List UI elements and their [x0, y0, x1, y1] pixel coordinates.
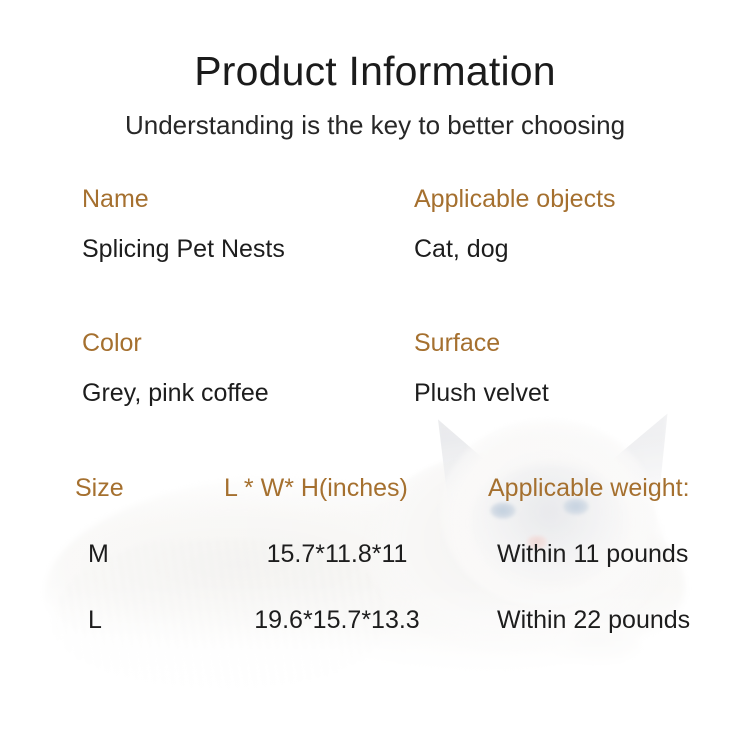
size-cell-dimensions-l: 19.6*15.7*13.3 — [212, 606, 462, 635]
spec-label-color: Color — [82, 329, 142, 358]
size-cell-size-m: M — [88, 540, 109, 569]
spec-label-applicable-objects: Applicable objects — [414, 185, 616, 214]
product-information-page: Product Information Understanding is the… — [0, 0, 750, 750]
size-table-header-size: Size — [75, 474, 124, 503]
size-cell-weight-m: Within 11 pounds — [497, 540, 688, 569]
spec-label-surface: Surface — [414, 329, 500, 358]
page-title: Product Information — [0, 48, 750, 95]
spec-value-name: Splicing Pet Nests — [82, 235, 285, 264]
spec-value-color: Grey, pink coffee — [82, 379, 269, 408]
spec-value-applicable-objects: Cat, dog — [414, 235, 509, 264]
size-table-header-weight: Applicable weight: — [488, 474, 690, 503]
size-table-header-dimensions: L * W* H(inches) — [224, 474, 408, 503]
size-cell-size-l: L — [88, 606, 102, 635]
spec-value-surface: Plush velvet — [414, 379, 549, 408]
content-layer: Product Information Understanding is the… — [0, 0, 750, 750]
spec-label-name: Name — [82, 185, 149, 214]
size-cell-weight-l: Within 22 pounds — [497, 606, 690, 635]
size-cell-dimensions-m: 15.7*11.8*11 — [212, 540, 462, 569]
page-subtitle: Understanding is the key to better choos… — [0, 110, 750, 141]
